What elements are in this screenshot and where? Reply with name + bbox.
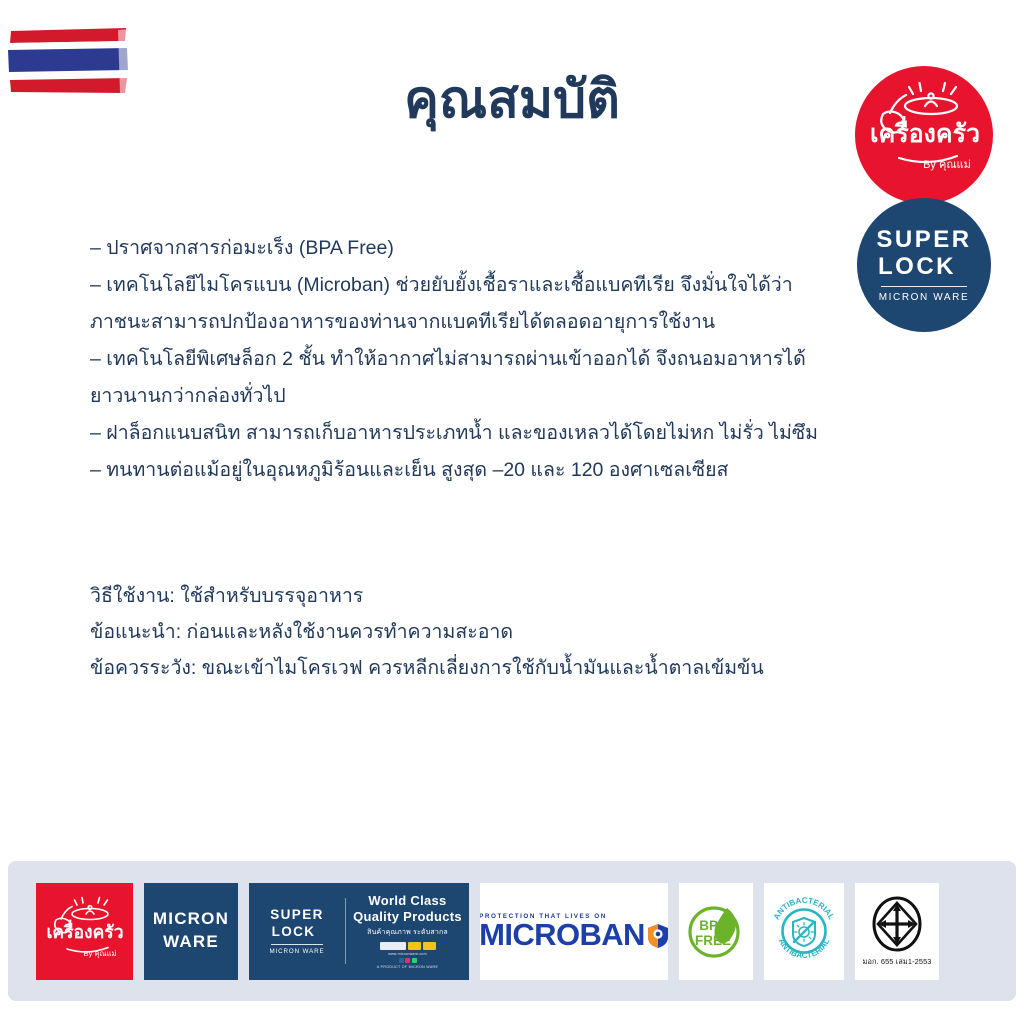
wc-footnote: A PRODUCT OF MICRON WARE bbox=[377, 965, 438, 969]
superlock-line2: LOCK bbox=[878, 254, 956, 281]
wc-url: www.micronware.com bbox=[388, 952, 427, 956]
microban-shield-icon bbox=[647, 923, 668, 949]
feature-bullet-cont: ยาวนานกว่ากล่องทั่วไป bbox=[90, 378, 880, 415]
superlock-divider bbox=[881, 286, 967, 287]
feature-bullet: – ฝาล็อกแนบสนิท สามารถเก็บอาหารประเภทน้ำ… bbox=[90, 415, 880, 452]
svg-text:FREE: FREE bbox=[695, 933, 731, 948]
wc-headline-1: World Class bbox=[368, 893, 446, 909]
superlock-line1: SUPER bbox=[876, 227, 971, 254]
facebook-icon bbox=[399, 958, 404, 963]
features-list: – ปราศจากสารก่อมะเร็ง (BPA Free) – เทคโน… bbox=[90, 230, 880, 489]
cert-bpa-free: BPA FREE bbox=[679, 883, 753, 980]
wc-superlock-line3: MICRON WARE bbox=[269, 948, 324, 955]
feature-bullet-cont: ภาชนะสามารถปกป้องอาหารของท่านจากแบคทีเรี… bbox=[90, 304, 880, 341]
feature-bullet: – ทนทานต่อแม้อยู่ในอุณหภูมิร้อนและเย็น ส… bbox=[90, 452, 880, 489]
cert-world-class: SUPER LOCK MICRON WARE World Class Quali… bbox=[249, 883, 469, 980]
svg-text:By คุณแม่: By คุณแม่ bbox=[84, 949, 117, 958]
line-icon bbox=[412, 958, 417, 963]
wc-badge-yellow-2 bbox=[423, 942, 436, 950]
svg-text:เครื่องครัว: เครื่องครัว bbox=[46, 919, 123, 942]
cert-microban: PROTECTION THAT LIVES ON MICROBAN bbox=[480, 883, 668, 980]
wc-superlock-line1: SUPER bbox=[270, 907, 324, 923]
svg-text:BPA: BPA bbox=[699, 918, 727, 933]
tis-mark-icon bbox=[868, 895, 926, 953]
instruction-warning: ข้อควรระวัง: ขณะเข้าไมโครเวฟ ควรหลีกเลี่… bbox=[90, 650, 890, 686]
wc-social-icons bbox=[399, 958, 417, 963]
micron-line2: WARE bbox=[163, 931, 219, 954]
cert-tis-standard: มอก. 655 เล่ม1-2553 bbox=[855, 883, 939, 980]
wc-divider-line bbox=[271, 944, 323, 945]
instructions-block: วิธีใช้งาน: ใช้สำหรับบรรจุอาหาร ข้อแนะนำ… bbox=[90, 578, 890, 686]
feature-bullet: – เทคโนโลยีพิเศษล็อก 2 ชั้น ทำให้อากาศไม… bbox=[90, 341, 880, 378]
wc-badge-white bbox=[380, 942, 406, 950]
wc-superlock-line2: LOCK bbox=[272, 924, 316, 940]
world-class-superlock: SUPER LOCK MICRON WARE bbox=[249, 907, 345, 954]
world-class-text: World Class Quality Products สินค้าคุณภา… bbox=[346, 893, 469, 970]
certification-bar: เครื่องครัว By คุณแม่ MICRON WARE SUPER … bbox=[8, 861, 1016, 1001]
superlock-line3: MICRON WARE bbox=[879, 292, 970, 303]
wc-headline-2: Quality Products bbox=[353, 909, 462, 925]
micron-line1: MICRON bbox=[153, 908, 229, 931]
cert-antibacterial: ANTIBACTERIAL ANTIBACTERIAL bbox=[764, 883, 844, 980]
instruction-recommendation: ข้อแนะนำ: ก่อนและหลังใช้งานควรทำความสะอา… bbox=[90, 614, 890, 650]
cert-micron-ware: MICRON WARE bbox=[144, 883, 238, 980]
wc-badge-row bbox=[380, 942, 436, 950]
cert-kitchenware-logo: เครื่องครัว By คุณแม่ bbox=[36, 883, 133, 980]
instruction-usage: วิธีใช้งาน: ใช้สำหรับบรรจุอาหาร bbox=[90, 578, 890, 614]
instagram-icon bbox=[405, 958, 410, 963]
svg-text:By คุณแม่: By คุณแม่ bbox=[923, 159, 971, 171]
tis-label: มอก. 655 เล่ม1-2553 bbox=[862, 956, 931, 968]
feature-bullet: – ปราศจากสารก่อมะเร็ง (BPA Free) bbox=[90, 230, 880, 267]
feature-bullet: – เทคโนโลยีไมโครแบน (Microban) ช่วยยับยั… bbox=[90, 267, 880, 304]
wc-subtitle-thai: สินค้าคุณภาพ ระดับสากล bbox=[367, 927, 448, 938]
microban-name: MICROBAN bbox=[480, 921, 645, 950]
wc-badge-yellow-1 bbox=[408, 942, 421, 950]
kitchenware-logo: เครื่องครัว By คุณแม่ bbox=[855, 66, 993, 204]
svg-text:เครื่องครัว: เครื่องครัว bbox=[870, 116, 980, 148]
